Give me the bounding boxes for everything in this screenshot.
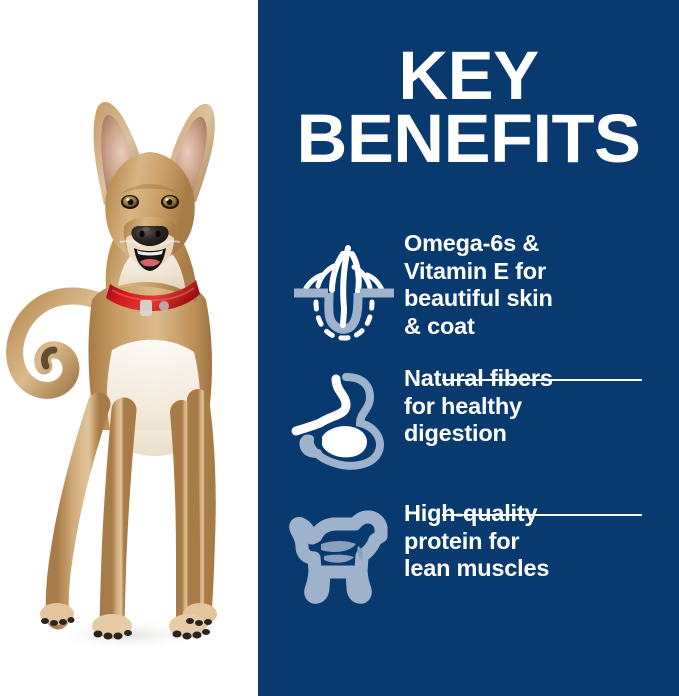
page-title-line-2: BENEFITS bbox=[254, 107, 679, 170]
benefit-line: for healthy bbox=[404, 393, 679, 421]
page-title-line-1: KEY bbox=[258, 44, 679, 107]
dog-muscle-icon bbox=[284, 492, 404, 612]
hair-follicle-icon bbox=[284, 222, 404, 342]
benefit-line: Vitamin E for bbox=[404, 258, 679, 286]
benefit-line: lean muscles bbox=[404, 555, 679, 583]
dog-photo-panel bbox=[0, 0, 258, 696]
benefit-line: protein for bbox=[404, 528, 679, 556]
benefit-text-protein: High-quality protein for lean muscles bbox=[404, 492, 679, 583]
benefit-text-skin-coat: Omega-6s & Vitamin E for beautiful skin … bbox=[404, 222, 679, 340]
page-title: KEY BENEFITS bbox=[258, 44, 679, 170]
benefits-panel: KEY BENEFITS bbox=[258, 0, 679, 696]
benefits-list: Omega-6s & Vitamin E for beautiful skin … bbox=[258, 222, 679, 627]
benefit-line: & coat bbox=[404, 313, 679, 341]
benefit-item-protein: High-quality protein for lean muscles bbox=[258, 492, 679, 627]
benefit-line: beautiful skin bbox=[404, 285, 679, 313]
benefit-item-digestion: Natural fibers for healthy digestion bbox=[258, 357, 679, 492]
key-benefits-infographic: KEY BENEFITS bbox=[0, 0, 679, 696]
benefit-line: digestion bbox=[404, 420, 679, 448]
benefit-line: Omega-6s & bbox=[404, 230, 679, 258]
benefit-text-digestion: Natural fibers for healthy digestion bbox=[404, 357, 679, 448]
benefit-line: Natural fibers bbox=[404, 365, 679, 393]
stomach-icon bbox=[284, 357, 404, 477]
benefit-item-skin-coat: Omega-6s & Vitamin E for beautiful skin … bbox=[258, 222, 679, 357]
dog-photo bbox=[0, 0, 258, 696]
benefit-line: High-quality bbox=[404, 500, 679, 528]
